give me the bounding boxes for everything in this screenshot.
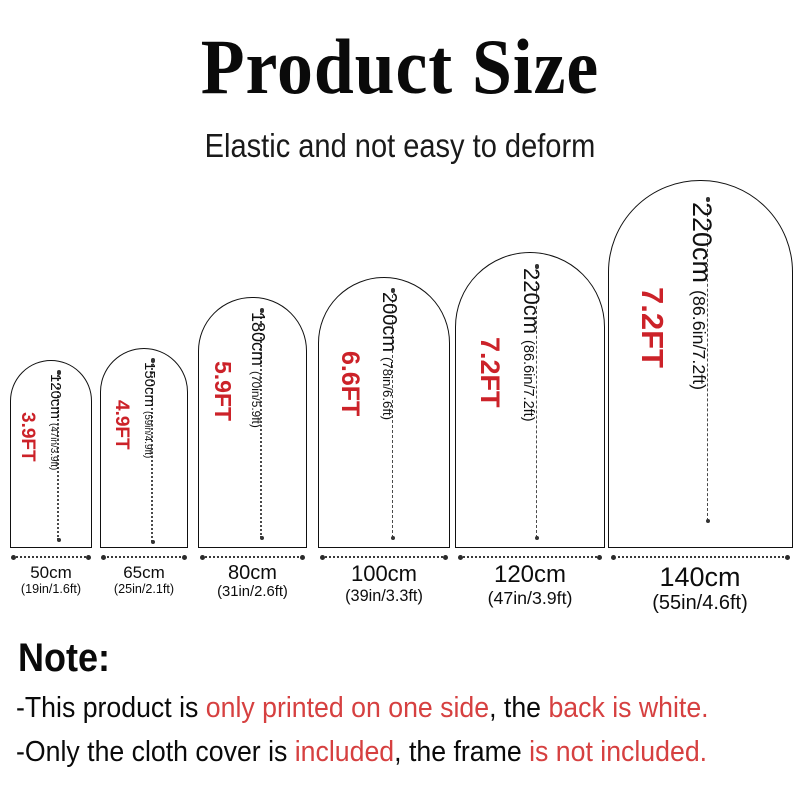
- width-measure-line: [103, 556, 185, 558]
- note2-text2: , the frame: [394, 736, 529, 768]
- height-ft-badge: 7.2FT: [634, 287, 670, 368]
- height-ft-badge: 3.9FT: [16, 412, 38, 462]
- measure-cap-left: [458, 555, 463, 560]
- measure-cap-right: [182, 555, 187, 560]
- measure-cap-right: [785, 555, 790, 560]
- note2-highlight1: included: [295, 736, 394, 768]
- measure-cap-bottom: [706, 519, 711, 524]
- note-line-2: -Only the cloth cover is included, the f…: [16, 736, 707, 768]
- measure-cap-left: [101, 555, 106, 560]
- height-ft-badge: 5.9FT: [209, 361, 236, 421]
- measure-cap-bottom: [57, 538, 62, 543]
- arch-item-120cm: 220cm(86.6in/7.2ft) 7.2FT 120cm (47in/3.…: [455, 252, 605, 548]
- note-heading: Note:: [18, 636, 110, 680]
- measure-cap-bottom: [260, 536, 265, 541]
- arch-item-100cm: 200cm(78in/6.6ft) 6.6FT 100cm (39in/3.3f…: [318, 277, 450, 548]
- measure-cap-bottom: [391, 536, 396, 541]
- measure-cap-bottom: [151, 540, 156, 545]
- height-ft-badge: 6.6FT: [335, 351, 364, 416]
- width-label: 120cm (47in/3.9ft): [443, 562, 617, 609]
- width-label: 65cm (25in/2.1ft): [88, 563, 200, 596]
- note1-highlight1: only printed on one side: [206, 692, 489, 724]
- measure-cap-left: [611, 555, 616, 560]
- height-label: 200cm(78in/6.6ft): [377, 292, 400, 420]
- note1-text1: -This product is: [16, 692, 206, 724]
- measure-cap-right: [443, 555, 448, 560]
- arch-item-80cm: 180cm(70in/5.9ft) 5.9FT 80cm (31in/2.6ft…: [198, 297, 307, 548]
- measure-cap-right: [86, 555, 91, 560]
- width-label: 100cm (39in/3.3ft): [306, 562, 462, 605]
- height-label: 150cm(59in/4.9ft): [141, 362, 158, 458]
- height-ft-badge: 7.2FT: [474, 337, 505, 408]
- product-size-infographic: Product Size Elastic and not easy to def…: [0, 0, 800, 800]
- width-label: 80cm (31in/2.6ft): [185, 562, 320, 601]
- measure-cap-left: [200, 555, 205, 560]
- height-label: 120cm(47in/3.9ft): [47, 374, 64, 470]
- note1-text2: , the: [489, 692, 548, 724]
- height-ft-badge: 4.9FT: [110, 400, 132, 450]
- note1-highlight2: back is white.: [548, 692, 708, 724]
- measure-cap-left: [320, 555, 325, 560]
- measure-cap-left: [11, 555, 16, 560]
- arch-item-50cm: 120cm(47in/3.9ft) 3.9FT 50cm (19in/1.6ft…: [10, 360, 92, 548]
- arch-item-65cm: 150cm(59in/4.9ft) 4.9FT 65cm (25in/2.1ft…: [100, 348, 188, 548]
- arch-item-140cm: 220cm(86.6in/7.2ft) 7.2FT 140cm (55in/4.…: [608, 180, 793, 548]
- size-comparison-diagram: 120cm(47in/3.9ft) 3.9FT 50cm (19in/1.6ft…: [0, 0, 800, 620]
- note-line-1: -This product is only printed on one sid…: [16, 692, 709, 724]
- width-measure-line: [613, 556, 788, 558]
- width-measure-line: [322, 556, 446, 558]
- measure-cap-right: [597, 555, 602, 560]
- height-label: 180cm(70in/5.9ft): [247, 312, 268, 428]
- height-label: 220cm(86.6in/7.2ft): [518, 268, 544, 422]
- note2-text1: -Only the cloth cover is: [16, 736, 295, 768]
- height-label: 220cm(86.6in/7.2ft): [686, 202, 717, 390]
- measure-cap-bottom: [535, 536, 540, 541]
- measure-cap-top: [706, 197, 711, 202]
- note2-highlight2: is not included.: [529, 736, 707, 768]
- width-label: 140cm (55in/4.6ft): [600, 562, 800, 615]
- width-measure-line: [13, 556, 89, 558]
- measure-cap-right: [300, 555, 305, 560]
- width-measure-line: [202, 556, 303, 558]
- width-measure-line: [460, 556, 600, 558]
